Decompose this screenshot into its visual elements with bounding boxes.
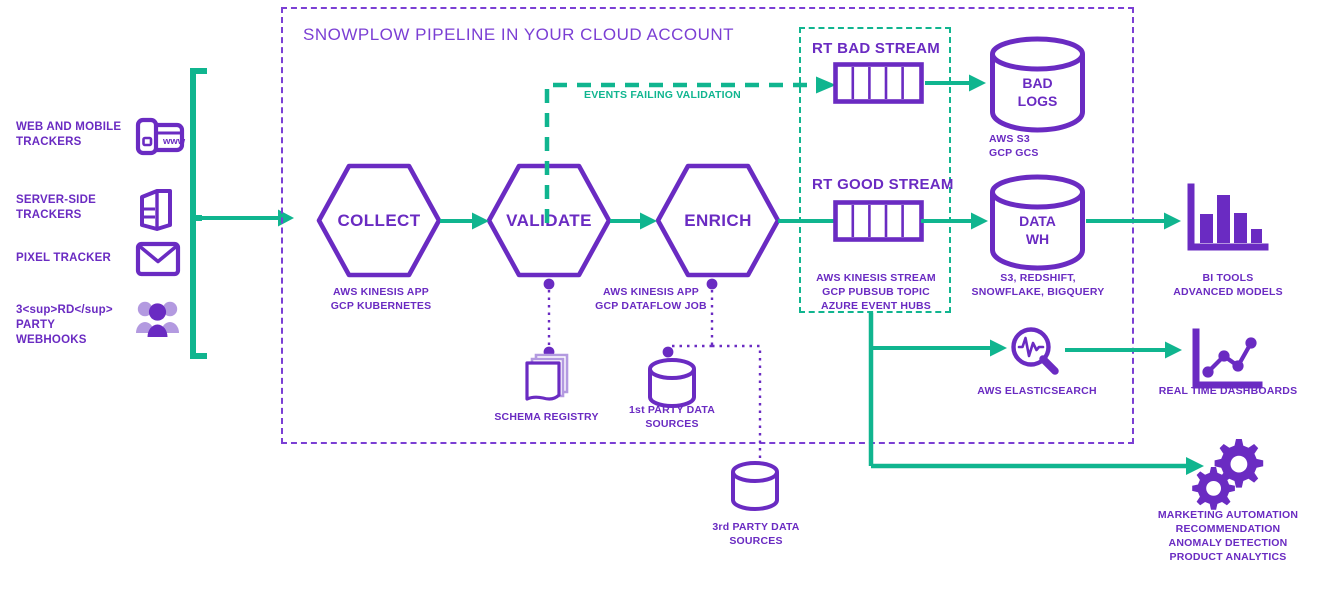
store-caption-bad-logs: AWS S3 GCP GCS xyxy=(989,133,1086,161)
people-icon xyxy=(134,296,182,340)
diagram-canvas: WEB AND MOBILE TRACKERS www SERVER-SIDE … xyxy=(0,0,1317,592)
stream-title-bad: RT BAD STREAM xyxy=(812,39,940,59)
stage-caption-validate: AWS KINESIS APP GCP DATAFLOW JOB xyxy=(576,286,726,314)
stream-caption-good: AWS KINESIS STREAM GCP PUBSUB TOPIC AZUR… xyxy=(806,272,946,314)
line-chart-icon xyxy=(1191,330,1263,392)
stream-title-good: RT GOOD STREAM xyxy=(812,175,954,195)
output-label-bi-tools: BI TOOLS ADVANCED MODELS xyxy=(1148,272,1308,300)
gears-icon xyxy=(1189,434,1265,512)
service-label-elasticsearch: AWS ELASTICSEARCH xyxy=(963,385,1111,399)
stage-label-validate: VALIDATE xyxy=(486,211,612,231)
pipeline-title: SNOWPLOW PIPELINE IN YOUR CLOUD ACCOUNT xyxy=(303,25,734,45)
stage-node-enrich[interactable]: ENRICH xyxy=(655,163,781,278)
stage-node-collect[interactable]: COLLECT xyxy=(316,163,442,278)
bar-chart-icon xyxy=(1186,185,1268,253)
source-label-server-side: SERVER-SIDE TRACKERS xyxy=(16,193,131,223)
events-failing-validation-note: EVENTS FAILING VALIDATION xyxy=(584,89,741,101)
store-caption-data-wh: S3, REDSHIFT, SNOWFLAKE, BIGQUERY xyxy=(963,272,1113,300)
stage-node-validate[interactable]: VALIDATE xyxy=(486,163,612,278)
side-input-label-third-party: 3rd PARTY DATA SOURCES xyxy=(698,521,814,549)
source-label-webhooks: 3<sup>RD</sup> PARTYWEBHOOKS xyxy=(16,303,136,349)
store-label-data-wh: DATA WH xyxy=(989,212,1086,248)
side-input-label-first-party: 1st PARTY DATA SOURCES xyxy=(614,404,730,432)
stage-label-enrich: ENRICH xyxy=(655,211,781,231)
stage-label-collect: COLLECT xyxy=(316,211,442,231)
sources-bracket xyxy=(186,66,296,361)
side-input-label-schema-registry: SCHEMA REGISTRY xyxy=(484,411,609,425)
streams-boundary-box xyxy=(799,27,951,313)
svg-text:www: www xyxy=(162,136,186,147)
devices-icon: www xyxy=(130,108,186,164)
third-party-cylinder-icon[interactable] xyxy=(728,460,782,512)
source-label-pixel: PIXEL TRACKER xyxy=(16,251,136,266)
server-icon xyxy=(132,183,184,235)
store-node-bad-logs[interactable]: BAD LOGS xyxy=(989,36,1086,130)
envelope-icon xyxy=(134,239,182,279)
source-label-web-mobile: WEB AND MOBILE TRACKERS xyxy=(16,120,131,150)
store-node-data-wh[interactable]: DATA WH xyxy=(989,174,1086,268)
store-label-bad-logs: BAD LOGS xyxy=(989,74,1086,110)
output-label-activation: MARKETING AUTOMATION RECOMMENDATION ANOM… xyxy=(1138,509,1317,564)
output-label-dashboards: REAL TIME DASHBOARDS xyxy=(1143,385,1313,399)
stage-caption-collect: AWS KINESIS APP GCP KUBERNETES xyxy=(311,286,451,314)
